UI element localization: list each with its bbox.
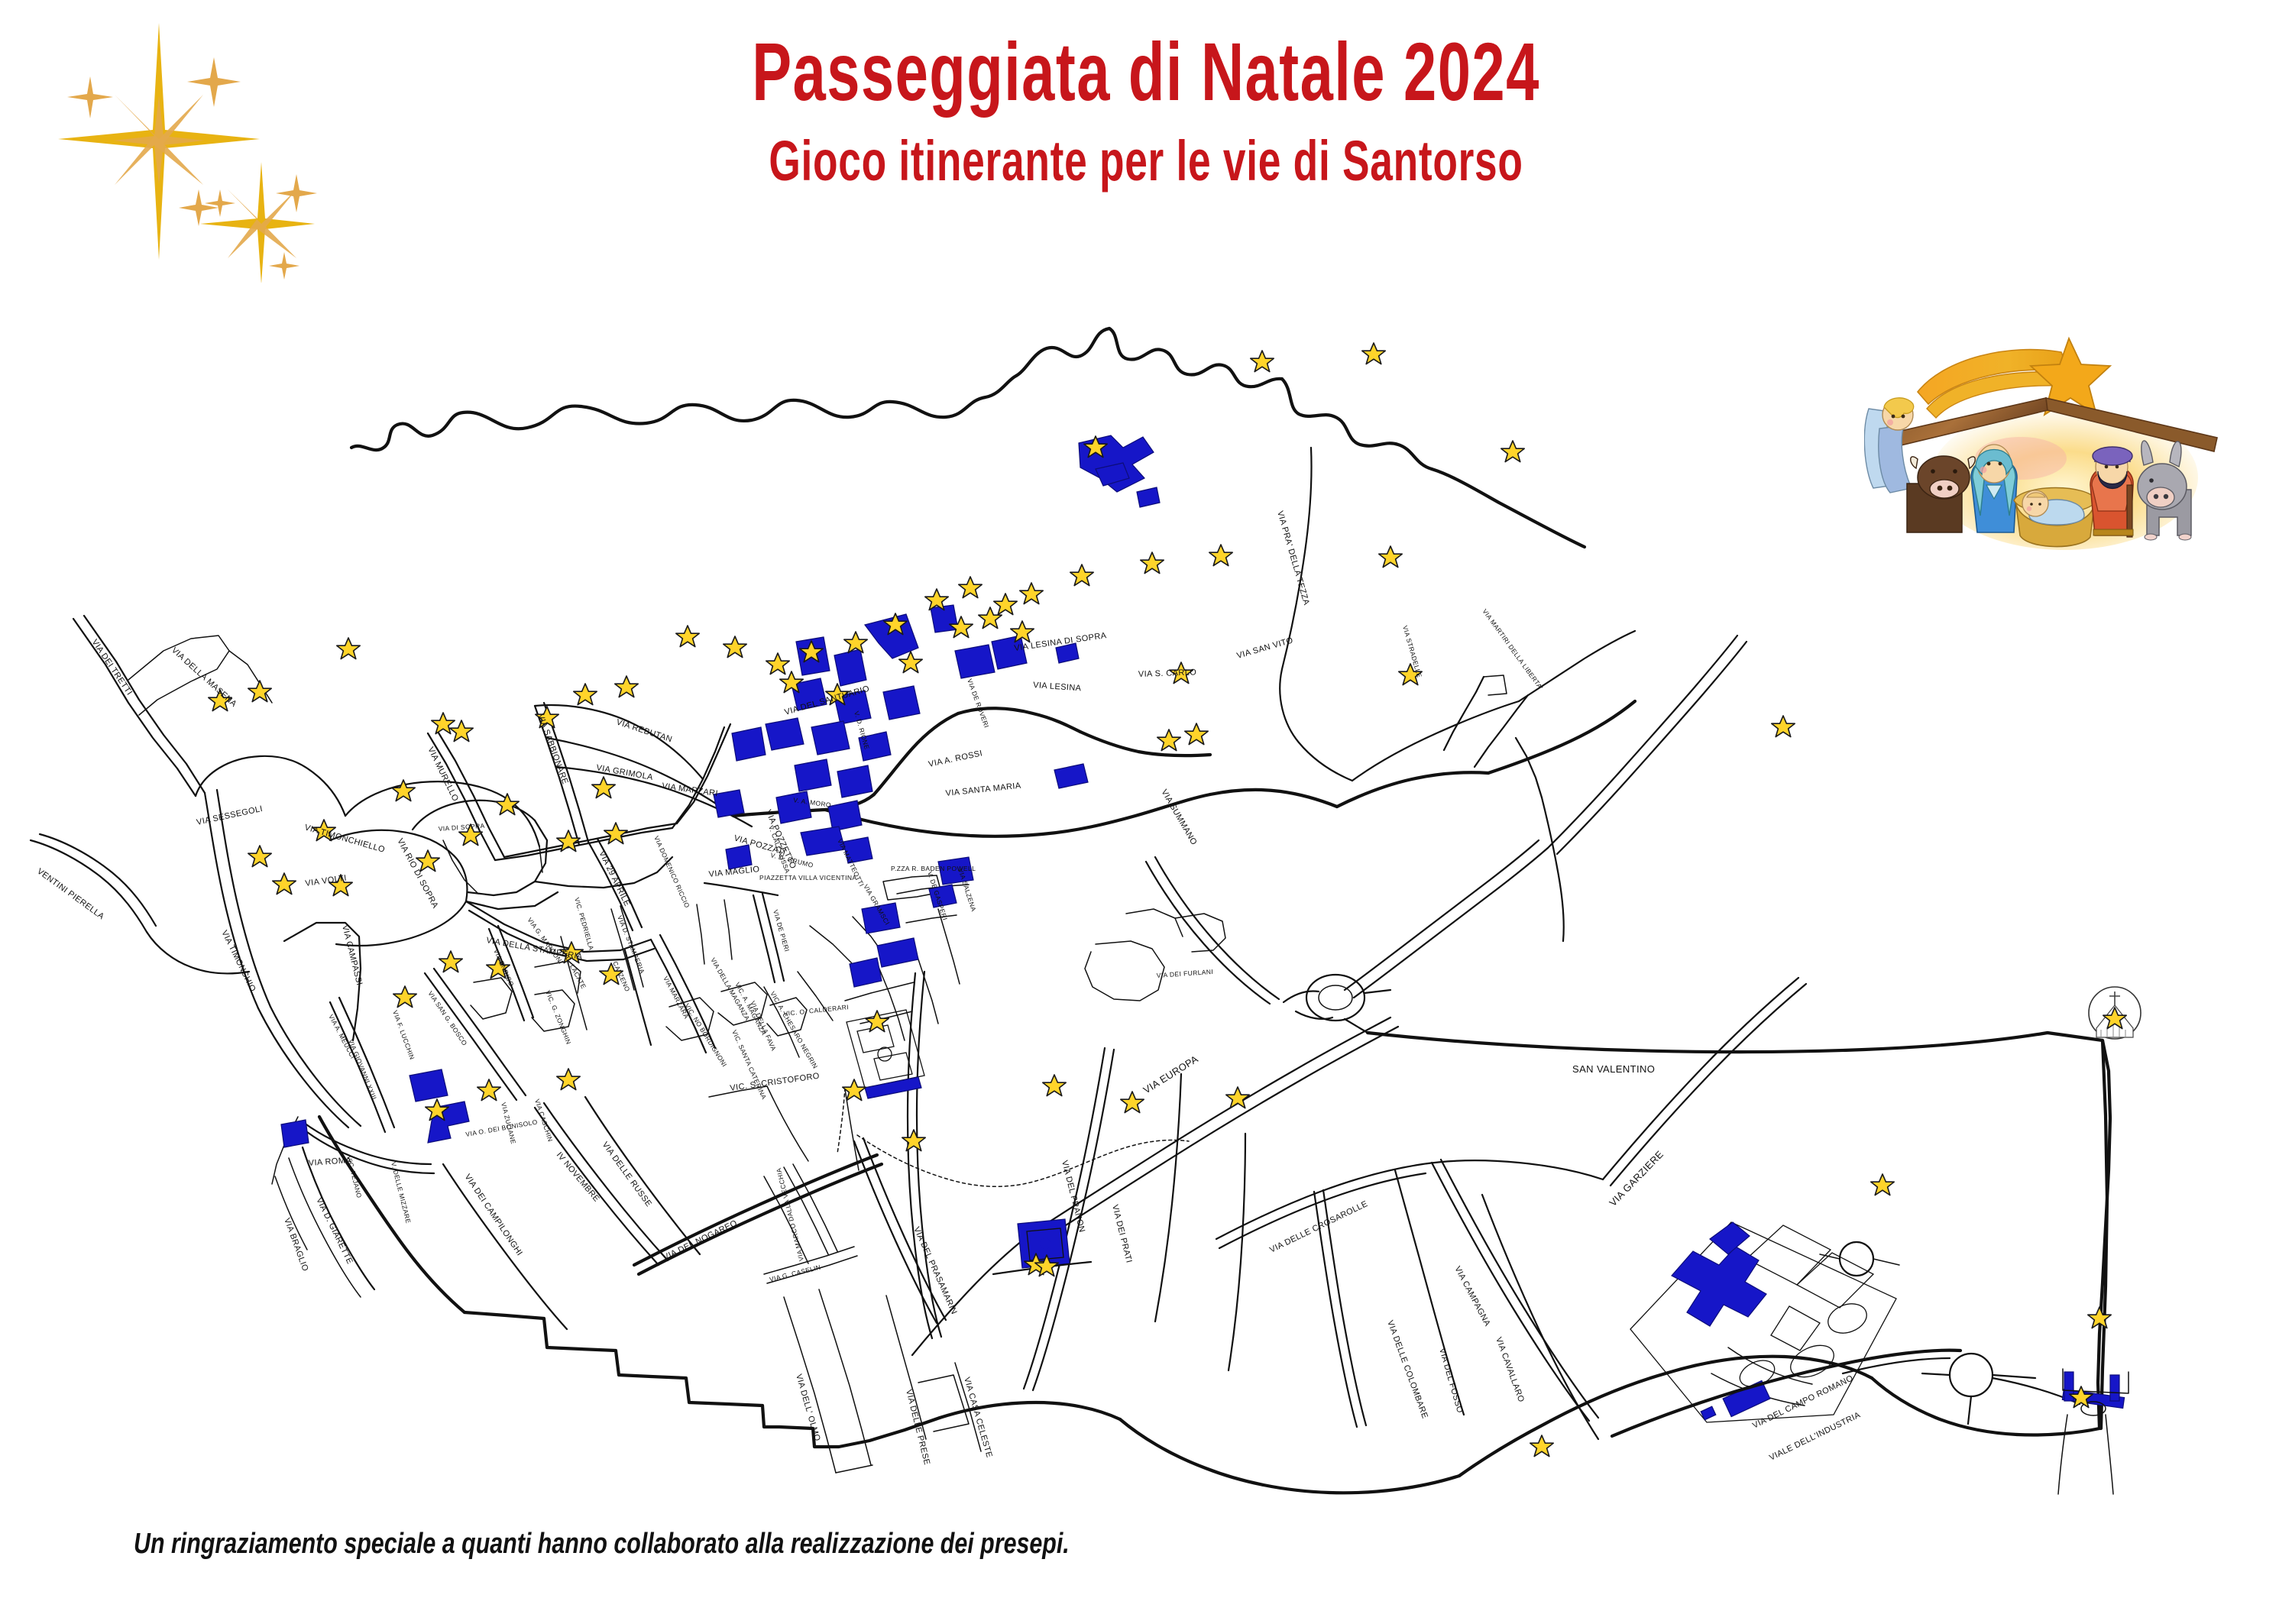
street-label: VIA DEI FURLANI — [1156, 968, 1213, 979]
street-label: VIA BRAGLIO — [282, 1217, 309, 1273]
roundabout-industrial-b — [1922, 1354, 2035, 1424]
street-label: VIA MURELLO — [426, 746, 460, 803]
street-label: VIA SESSEGOLI — [196, 804, 264, 827]
street-label: VIA DEL FOSSO — [1437, 1347, 1465, 1415]
street-label: VIA PRA' DELLA TEZZA — [1275, 510, 1311, 607]
map-north-boundary — [351, 328, 1585, 547]
street-label: VIA CAVALLARO — [1494, 1336, 1526, 1404]
street-label: VIA DEI TRETTI — [90, 638, 134, 697]
map-street-labels: VIA DEI TRETTI VIA DELLA MASENA VIA SESS… — [35, 510, 1862, 1467]
street-label: VIA RIO DI SOPRA — [395, 837, 439, 911]
street-label: VIA A. ROSSI — [927, 749, 983, 769]
street-label: VIC. S. CRISTOFORO — [730, 1072, 821, 1093]
street-label: VIA MARCO DALLA VECCHIA — [775, 1167, 805, 1262]
street-label: VIC. O. CALDERARI — [783, 1003, 849, 1017]
street-label: VIA SUMMANO — [1159, 788, 1198, 847]
street-label: VIC. PEDRIELLA — [573, 897, 595, 951]
street-label: VIA CAMPAGNA — [1452, 1265, 1492, 1328]
roundabout-north — [1284, 975, 1390, 1033]
street-label: VIA O. DEI BONISOLO — [465, 1118, 539, 1138]
footer-note: Un ringraziamento speciale a quanti hann… — [134, 1528, 1478, 1561]
street-label: VIA MARZARI — [662, 781, 719, 798]
street-label: VIA 29 APRILE — [597, 849, 632, 907]
sports-field — [847, 1010, 924, 1098]
street-label: VIA EUROPA — [1141, 1053, 1200, 1095]
street-label: VIA S. CARLO — [1138, 668, 1197, 679]
street-label: VIA DE PIERI — [772, 909, 791, 953]
street-label: VIC. NO BORDIGNONI — [683, 1002, 728, 1069]
title-block: Passeggiata di Natale 2024 Gioco itinera… — [0, 31, 2292, 189]
map-main-roads — [31, 448, 2048, 1244]
sparkle-decoration — [23, 15, 344, 283]
street-label: VIA DEI PRATI — [1110, 1204, 1134, 1264]
street-label: VIA DELLE COLOMBARE — [1385, 1319, 1429, 1420]
street-label: VIA TIMONCHIO — [219, 929, 257, 994]
map-hospital-zone — [1612, 1040, 2129, 1494]
street-label: PIAZZETTA VILLA VICENTINA — [759, 874, 856, 882]
street-label: VIA DI SOPRA — [438, 822, 485, 833]
street-label: VIA DEI CAMPILONGHI — [463, 1173, 525, 1257]
street-label: VIA DE ROVERI — [966, 678, 991, 729]
street-label: VIA SAN G. BOSCO — [426, 990, 468, 1047]
street-label: VIA MAGLIO — [708, 865, 760, 879]
street-label: VIA DEL NOGAREO — [662, 1218, 739, 1262]
street-label: VIA MARZARA — [662, 975, 691, 1020]
map-village-streets — [272, 875, 1189, 1473]
page-subtitle: Gioco itinerante per le vie di Santorso — [321, 133, 1971, 189]
page-title: Passeggiata di Natale 2024 — [321, 31, 1971, 113]
street-label: VIA G. CASELIN — [769, 1263, 821, 1283]
church-icon — [2089, 987, 2141, 1039]
map-presepe-buildings — [281, 435, 1160, 1147]
map-canvas[interactable]: VIA DEI TRETTI VIA DELLA MASENA VIA SESS… — [0, 306, 2292, 1497]
street-label: VIA DELLA MASENA — [170, 645, 238, 709]
town-map[interactable]: VIA DEI TRETTI VIA DELLA MASENA VIA SESS… — [0, 306, 2292, 1497]
street-label: VIA DELLE CROSAROLLE — [1268, 1199, 1369, 1255]
street-label: VIA MARTIRI DELLA LIBERTA' — [1481, 607, 1544, 691]
street-label: VIA REBUTAN — [615, 717, 673, 744]
street-label: VIA TIMONCHIELLO — [303, 823, 386, 855]
street-label: SAN VALENTINO — [1572, 1063, 1655, 1075]
roundabout-industrial-a — [1820, 1242, 1899, 1276]
street-label: VIA DELL' OLMO — [794, 1373, 822, 1443]
street-label: VIA DELLE RUSSE — [601, 1140, 654, 1209]
street-label: VIA G. MARCONI — [526, 916, 565, 966]
street-label: VIA F. LUCCHIN — [391, 1009, 416, 1060]
street-label: IV NOVEMBRE — [555, 1150, 601, 1204]
street-label: VENTINI PIERELLA — [35, 867, 106, 922]
street-label: VIA ROMA — [308, 1156, 351, 1168]
street-label: VIC. A. CHESARO NEGRIN — [769, 990, 819, 1070]
street-label: VIC. TEJANO — [345, 1155, 363, 1199]
street-label: VIA GIOVANNI XXIII — [347, 1038, 378, 1101]
street-label: VIA SANTA MARIA — [945, 781, 1021, 798]
street-label: VIA LESINA — [1033, 681, 1082, 693]
presepe-star-markers[interactable] — [209, 343, 2111, 1457]
